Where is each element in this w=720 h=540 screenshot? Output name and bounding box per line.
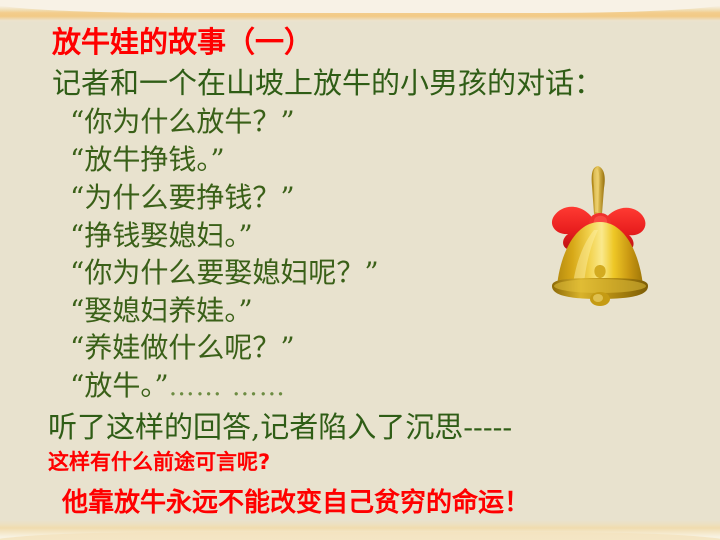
dialogue-line: “娶媳妇养娃。” [70, 296, 253, 326]
dialogue-line: “挣钱娶媳妇。” [70, 221, 253, 251]
dialogue-line-last: “放牛。”…… …… [70, 371, 286, 402]
conclusion-line: 听了这样的回答,记者陷入了沉思----- [48, 411, 512, 443]
slide-canvas: 放牛娃的故事（一） 记者和一个在山坡上放牛的小男孩的对话： “你为什么放牛？” … [0, 0, 720, 540]
dialogue-line: “养娃做什么呢？” [70, 333, 295, 363]
bell-icon [540, 158, 660, 328]
dialogue-line: “你为什么放牛？” [70, 107, 295, 137]
bottom-band-curve [0, 532, 720, 540]
dialogue-line: “你为什么要娶媳妇呢？” [70, 258, 379, 288]
dialogue-line: “放牛挣钱。” [70, 145, 225, 175]
dialogue-line: “为什么要挣钱？” [70, 183, 295, 213]
lead-in-text: 记者和一个在山坡上放牛的小男孩的对话： [52, 67, 603, 99]
rhetorical-question: 这样有什么前途可言呢? [48, 450, 270, 474]
final-statement: 他靠放牛永远不能改变自己贫穷的命运！ [62, 489, 530, 518]
slide-title: 放牛娃的故事（一） [52, 26, 313, 58]
conclusion-dashes: ----- [463, 410, 512, 444]
conclusion-text: 听了这样的回答,记者陷入了沉思 [48, 410, 463, 444]
ellipsis-text: …… …… [169, 372, 286, 402]
bottom-decorative-band [0, 520, 720, 540]
dialogue-text: “放牛。” [70, 369, 169, 402]
